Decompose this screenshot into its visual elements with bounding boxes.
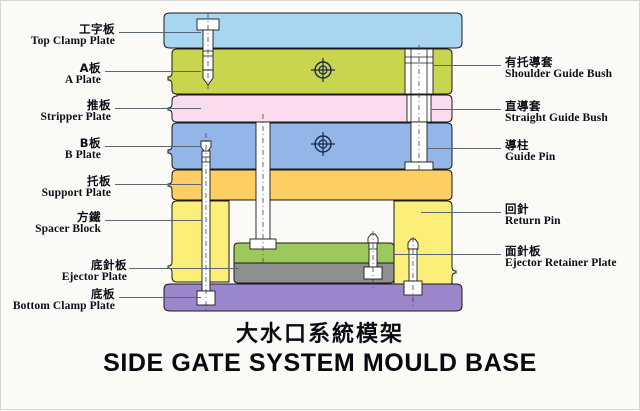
label-bottom-clamp-plate: 底板 Bottom Clamp Plate xyxy=(13,288,115,313)
label-spacer-block-en: Spacer Block xyxy=(35,223,101,235)
label-a-plate: A板 A Plate xyxy=(65,62,101,87)
label-spacer-block-cn: 方鐵 xyxy=(35,211,101,223)
leader-straight-guide-bush xyxy=(431,109,501,110)
label-guide-pin: 導柱 Guide Pin xyxy=(505,139,555,164)
label-a-plate-en: A Plate xyxy=(65,74,101,86)
label-b-plate-cn: B板 xyxy=(65,137,101,149)
label-ejector-retainer-plate-cn: 面針板 xyxy=(505,245,617,257)
label-straight-guide-bush: 直導套 Straight Guide Bush xyxy=(505,100,608,125)
leader-spacer-block xyxy=(105,220,201,221)
label-ejector-retainer-plate: 面針板 Ejector Retainer Plate xyxy=(505,245,617,270)
label-straight-guide-bush-en: Straight Guide Bush xyxy=(505,112,608,124)
label-return-pin-cn: 回針 xyxy=(505,203,561,215)
label-stripper-plate-en: Stripper Plate xyxy=(41,111,112,123)
plate-spacer-block-left xyxy=(168,201,229,282)
label-guide-pin-en: Guide Pin xyxy=(505,151,555,163)
label-support-plate: 托板 Support Plate xyxy=(42,175,111,200)
plate-spacer-block-right xyxy=(394,201,456,287)
leader-b-plate xyxy=(105,146,201,147)
label-stripper-plate: 推板 Stripper Plate xyxy=(41,99,112,124)
label-top-clamp-plate-cn: 工字板 xyxy=(31,23,115,35)
leader-stripper-plate xyxy=(115,108,201,109)
label-return-pin-en: Return Pin xyxy=(505,215,561,227)
figure-title-english: SIDE GATE SYSTEM MOULD BASE xyxy=(1,349,639,378)
label-support-plate-en: Support Plate xyxy=(42,187,111,199)
label-support-plate-cn: 托板 xyxy=(42,175,111,187)
leader-ejector-plate xyxy=(129,268,239,269)
label-top-clamp-plate: 工字板 Top Clamp Plate xyxy=(31,23,115,48)
label-ejector-retainer-plate-en: Ejector Retainer Plate xyxy=(505,257,617,269)
label-b-plate: B板 B Plate xyxy=(65,137,101,162)
leader-guide-pin xyxy=(427,148,501,149)
label-a-plate-cn: A板 xyxy=(65,62,101,74)
label-ejector-plate: 底針板 Ejector Plate xyxy=(62,259,127,284)
label-shoulder-guide-bush-en: Shoulder Guide Bush xyxy=(505,68,612,80)
label-spacer-block: 方鐵 Spacer Block xyxy=(35,211,101,236)
label-bottom-clamp-plate-en: Bottom Clamp Plate xyxy=(13,300,115,312)
leader-a-plate xyxy=(105,71,201,72)
label-return-pin: 回針 Return Pin xyxy=(505,203,561,228)
label-stripper-plate-cn: 推板 xyxy=(41,99,112,111)
label-straight-guide-bush-cn: 直導套 xyxy=(505,100,608,112)
label-bottom-clamp-plate-cn: 底板 xyxy=(13,288,115,300)
leader-bottom-clamp-plate xyxy=(119,297,201,298)
plate-support-plate xyxy=(168,170,452,200)
figure-title-chinese: 大水口系統模架 xyxy=(1,316,639,348)
label-shoulder-guide-bush-cn: 有托導套 xyxy=(505,56,612,68)
diagram-canvas: .ol{stroke:#1a1a1a;stroke-width:1;} .thi… xyxy=(0,0,640,410)
label-guide-pin-cn: 導柱 xyxy=(505,139,555,151)
label-top-clamp-plate-en: Top Clamp Plate xyxy=(31,35,115,47)
leader-ejector-retainer-plate xyxy=(394,254,501,255)
leader-top-clamp-plate xyxy=(119,32,201,33)
leader-return-pin xyxy=(421,212,501,213)
label-ejector-plate-cn: 底針板 xyxy=(62,259,127,271)
leader-shoulder-guide-bush xyxy=(433,65,501,66)
label-ejector-plate-en: Ejector Plate xyxy=(62,271,127,283)
label-shoulder-guide-bush: 有托導套 Shoulder Guide Bush xyxy=(505,56,612,81)
leader-support-plate xyxy=(115,184,201,185)
label-b-plate-en: B Plate xyxy=(65,149,101,161)
